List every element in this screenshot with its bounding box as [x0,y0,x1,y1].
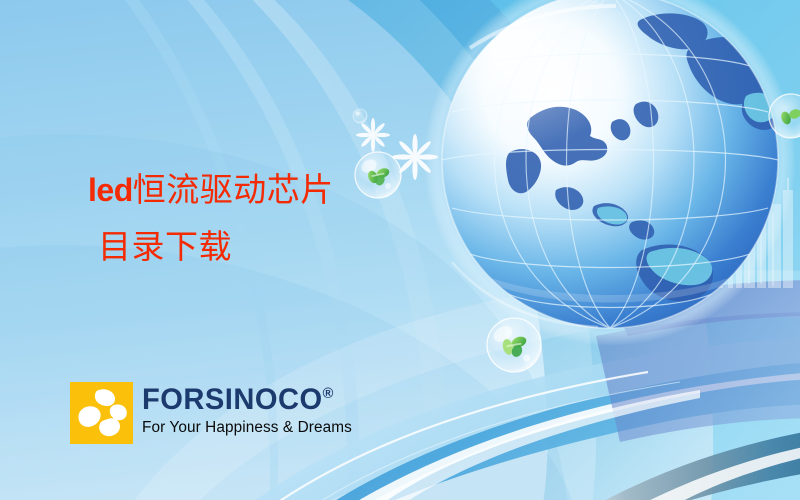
forsinoco-logo: FORSINOCO® For Your Happiness & Dreams [70,382,354,444]
headline-line-1: led恒流驱动芯片 [88,170,334,209]
sparkle-icon [356,118,390,152]
bubble-with-pinwheel [355,152,401,198]
bubble-with-pinwheel [487,318,541,372]
headline-line-1-cjk: 恒流驱动芯片 [133,170,334,209]
headline-line-2: 目录下载 [88,219,334,276]
logo-tagline: For Your Happiness & Dreams [142,418,352,438]
logo-text-block: FORSINOCO® For Your Happiness & Dreams [142,382,354,438]
forsinoco-flower-mark [70,382,133,444]
promotional-poster: led恒流驱动芯片 目录下载 FORSINOCO® For Your [0,0,800,500]
headline-line-1-latin: led [88,172,133,208]
sparkle-icon [392,134,438,180]
wordmark-label: FORSINOCO [142,383,323,416]
logo-wordmark: FORSINOCO® [142,385,348,415]
bubble-small [353,109,367,123]
registered-trademark-icon: ® [323,385,334,402]
headline-text: led恒流驱动芯片 目录下载 [88,162,334,276]
bubble-with-pinwheel [769,94,800,138]
